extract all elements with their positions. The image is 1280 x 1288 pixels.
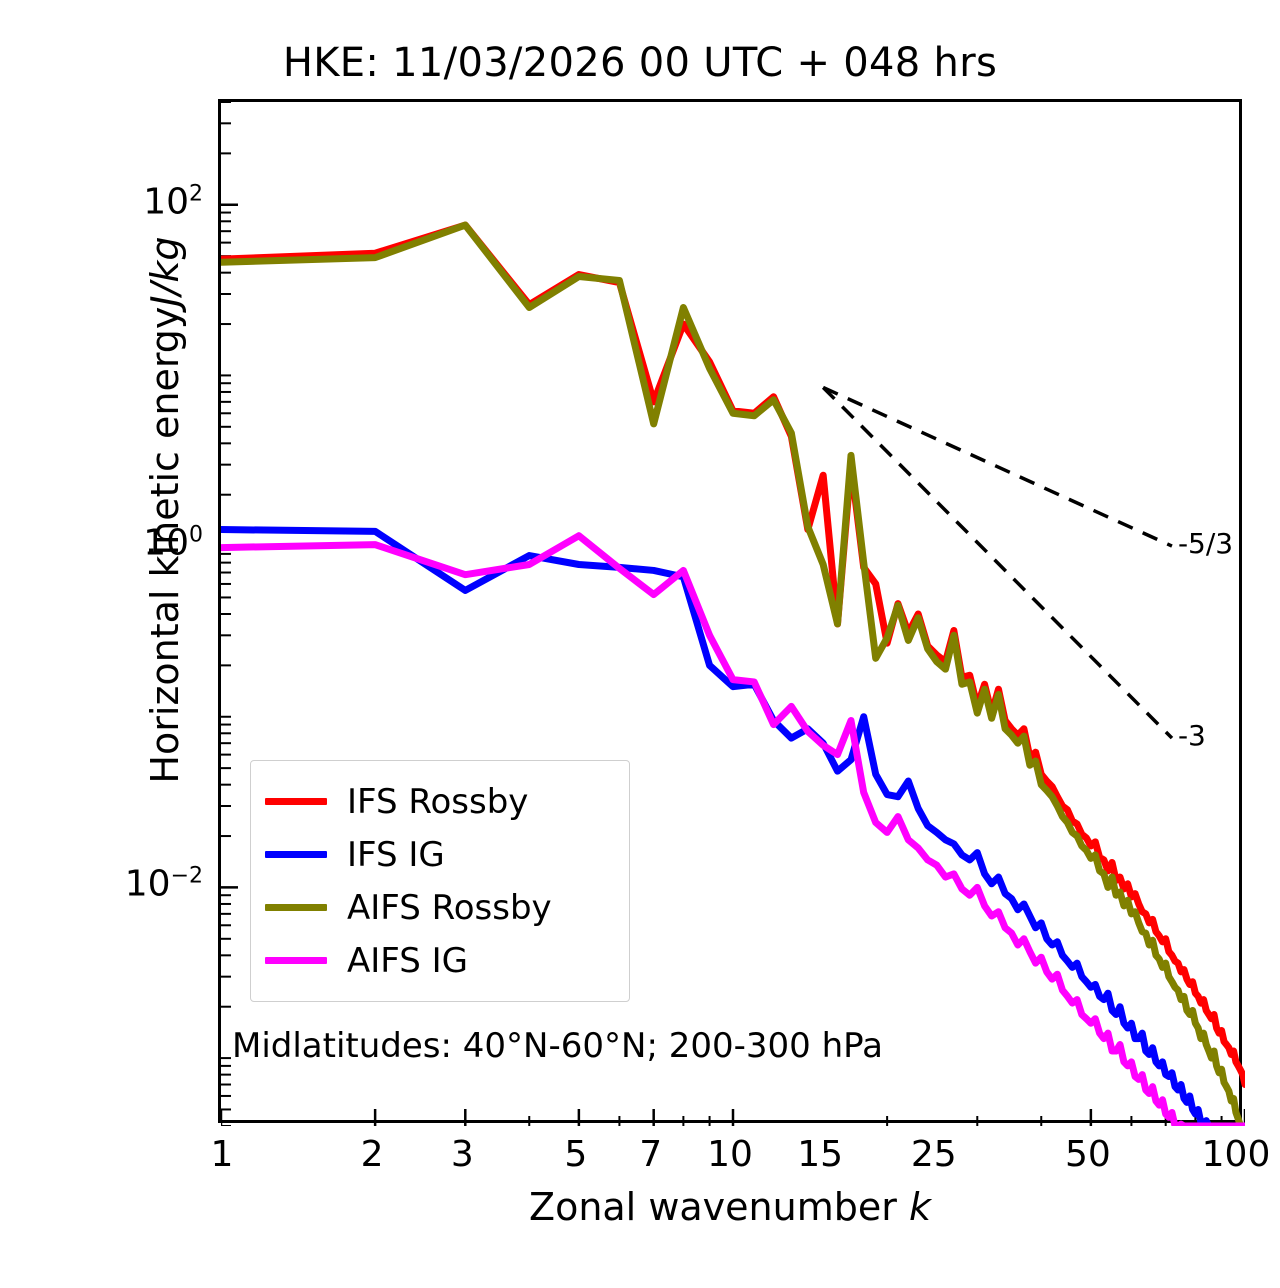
x-axis-label-plain: Zonal wavenumber: [529, 1185, 909, 1229]
x-axis-tick-labels: 1235710152550100: [218, 1134, 1242, 1184]
legend-item-aifs-rossby[interactable]: AIFS Rossby: [265, 881, 611, 934]
x-axis-label-symbol: k: [909, 1185, 931, 1229]
y-tick-label-0: 102: [143, 181, 203, 222]
x-tick-label-50: 50: [1065, 1134, 1111, 1175]
reference-line-label-3: -3: [1178, 719, 1206, 752]
x-tick-label-25: 25: [911, 1134, 957, 1175]
x-tick-label-100: 100: [1202, 1134, 1271, 1175]
legend-label: AIFS IG: [347, 944, 468, 978]
y-axis-tick-labels: 10210010−2: [18, 99, 203, 1123]
chart-title: HKE: 11/03/2026 00 UTC + 048 hrs: [0, 40, 1280, 86]
x-tick-label-2: 2: [361, 1134, 384, 1175]
x-tick-label-7: 7: [639, 1134, 662, 1175]
y-tick-label-1: 100: [143, 523, 203, 564]
region-annotation: Midlatitudes: 40°N-60°N; 200-300 hPa: [232, 1026, 883, 1066]
legend-swatch-aifs-rossby: [265, 904, 327, 911]
x-tick-label-5: 5: [564, 1134, 587, 1175]
legend-label: AIFS Rossby: [347, 891, 552, 925]
x-tick-label-3: 3: [451, 1134, 474, 1175]
legend-swatch-ifs-rossby: [265, 798, 327, 805]
x-tick-label-10: 10: [707, 1134, 753, 1175]
reference-line-label-5-3: -5/3: [1178, 527, 1233, 560]
y-tick-label-2: 10−2: [125, 864, 203, 905]
legend-swatch-ifs-ig: [265, 851, 327, 858]
legend-label: IFS Rossby: [347, 785, 528, 819]
figure-root: HKE: 11/03/2026 00 UTC + 048 hrs Horizon…: [0, 0, 1280, 1288]
legend-item-ifs-ig[interactable]: IFS IG: [265, 828, 611, 881]
legend-label: IFS IG: [347, 838, 445, 872]
legend-item-ifs-rossby[interactable]: IFS Rossby: [265, 775, 611, 828]
x-axis-label: Zonal wavenumber k: [218, 1185, 1242, 1229]
legend-swatch-aifs-ig: [265, 957, 327, 964]
chart-legend: IFS RossbyIFS IGAIFS RossbyAIFS IG: [250, 760, 630, 1002]
x-tick-label-1: 1: [211, 1134, 234, 1175]
reference-line-slope-3: [823, 387, 1172, 738]
reference-line-slope-5-3: [823, 387, 1172, 546]
legend-item-aifs-ig[interactable]: AIFS IG: [265, 934, 611, 987]
x-tick-label-15: 15: [797, 1134, 843, 1175]
reference-lines-group: [823, 387, 1172, 738]
